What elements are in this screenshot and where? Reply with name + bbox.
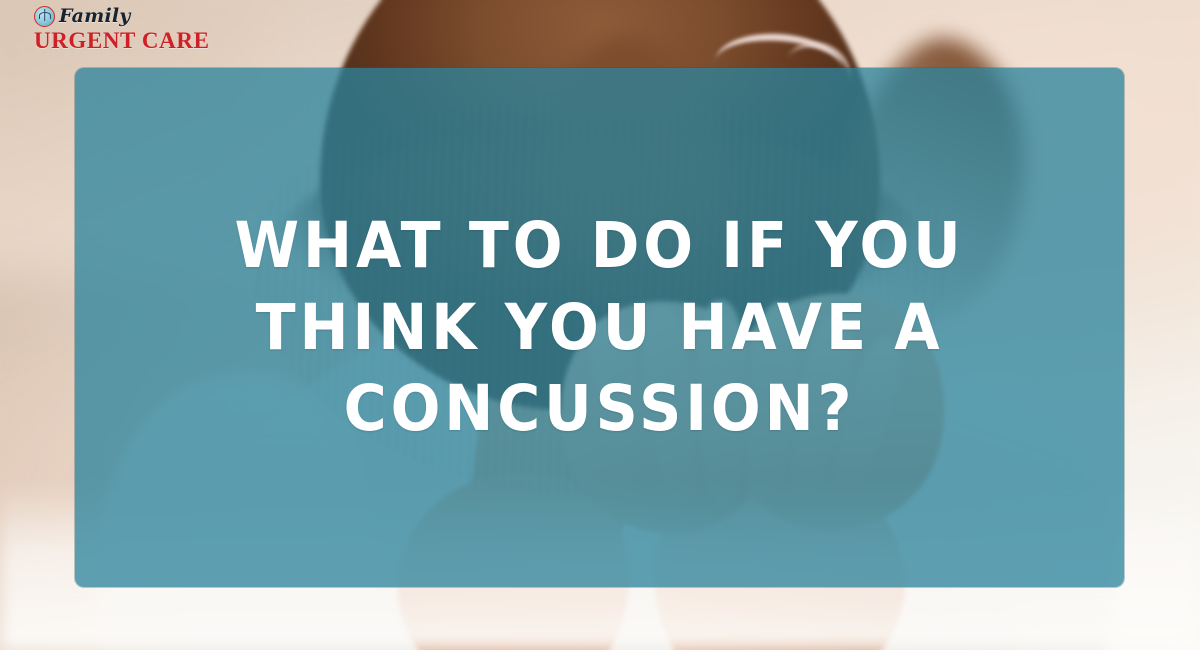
page-title-line-1: WHAT TO DO IF YOU <box>234 205 964 287</box>
brand-logo[interactable]: Family URGENT CARE <box>34 4 224 52</box>
headline-overlay-panel: WHAT TO DO IF YOU THINK YOU HAVE A CONCU… <box>75 68 1124 587</box>
page-title: WHAT TO DO IF YOU THINK YOU HAVE A CONCU… <box>195 205 1003 451</box>
brand-logo-top-row: Family <box>34 4 224 28</box>
brand-logo-script-word: Family <box>59 7 131 26</box>
article-hero-banner: WHAT TO DO IF YOU THINK YOU HAVE A CONCU… <box>0 0 1200 650</box>
page-title-line-3: CONCUSSION? <box>234 368 964 450</box>
medical-circle-icon <box>34 6 55 27</box>
page-title-line-2: THINK YOU HAVE A <box>234 287 964 369</box>
brand-logo-main-word: URGENT CARE <box>34 29 224 53</box>
